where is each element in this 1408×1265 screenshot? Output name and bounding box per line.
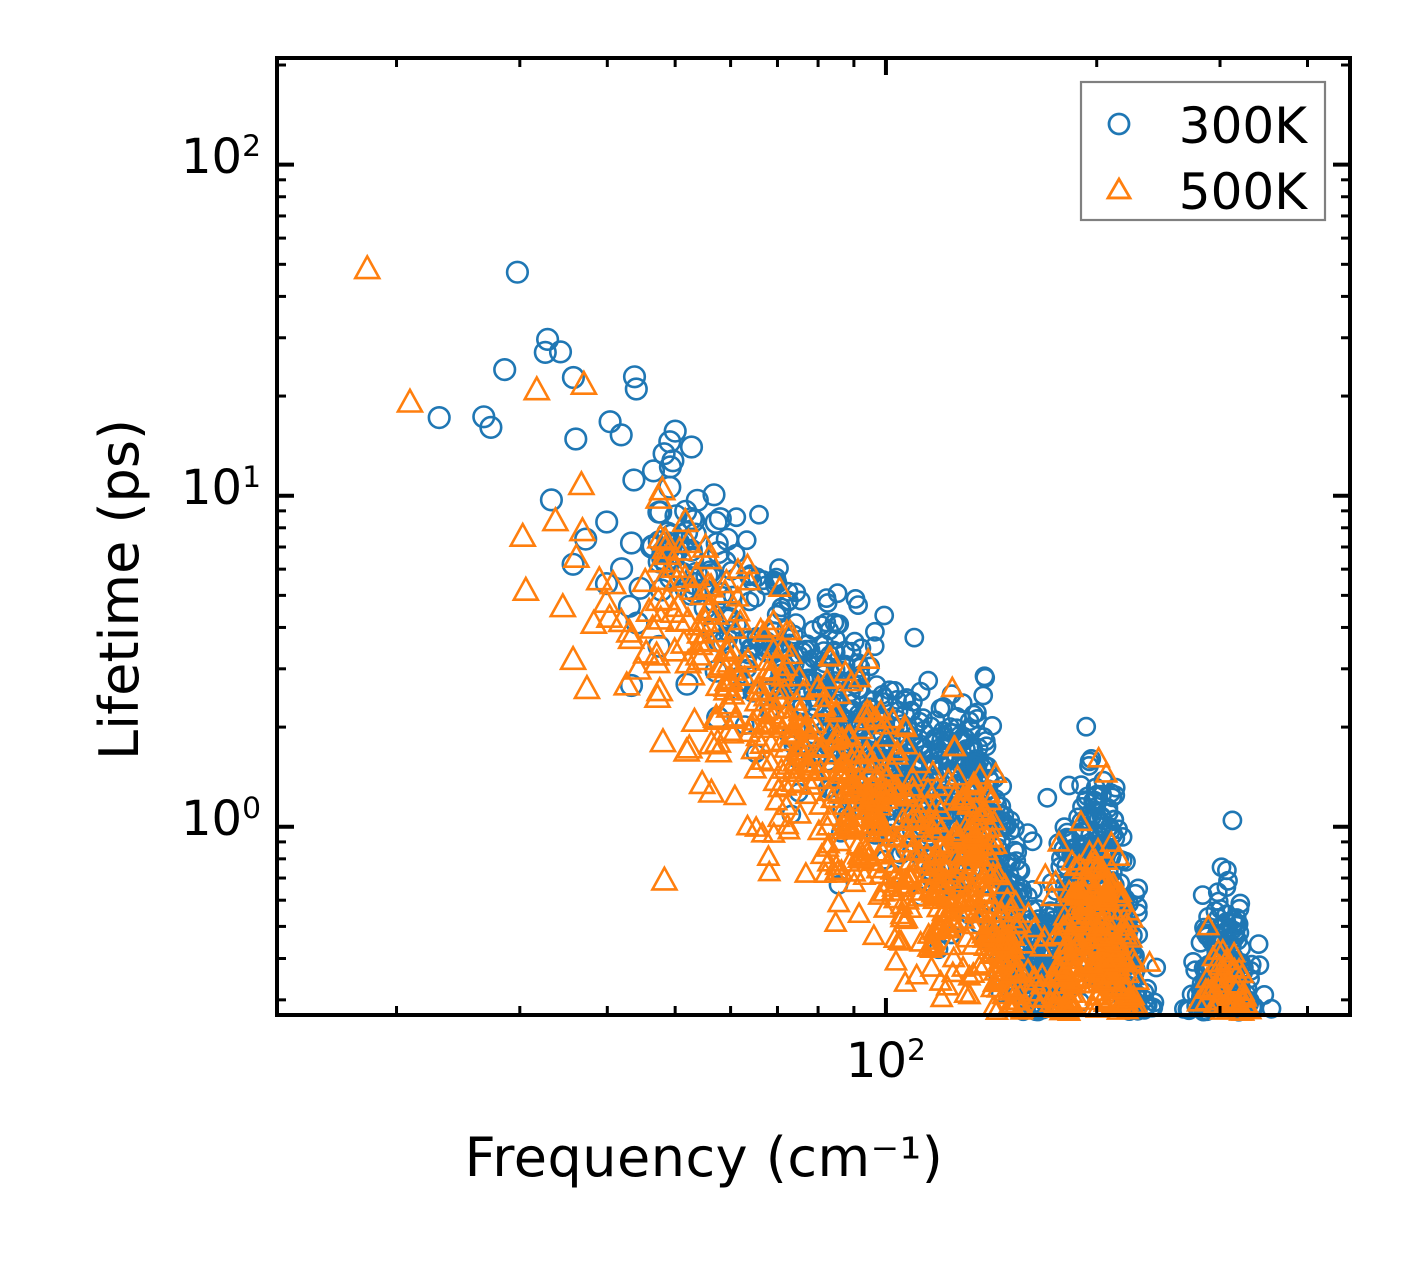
data-point <box>582 611 606 633</box>
data-point <box>906 629 923 646</box>
data-point <box>507 262 528 283</box>
legend-label-300K: 300K <box>1179 97 1308 155</box>
data-point <box>596 512 617 533</box>
data-point <box>575 676 599 698</box>
data-point <box>398 390 422 412</box>
y-axis-label-text: Lifetime (ps) <box>88 419 151 760</box>
data-point <box>796 864 816 882</box>
x-axis-label: Frequency (cm⁻¹) <box>0 1126 1408 1189</box>
data-point <box>652 868 676 890</box>
x-axis-label-text: Frequency (cm⁻¹) <box>465 1126 944 1189</box>
data-point <box>699 780 723 802</box>
data-point <box>611 425 632 446</box>
data-point <box>569 472 593 494</box>
data-point <box>864 926 884 944</box>
data-point <box>1256 986 1273 1003</box>
data-point <box>621 533 642 554</box>
figure-canvas: 300K500K Frequency (cm⁻¹) Lifetime (ps) … <box>0 0 1408 1265</box>
data-point <box>624 470 645 491</box>
data-point <box>541 490 562 511</box>
data-point <box>429 407 450 428</box>
data-point <box>511 524 535 546</box>
data-point <box>849 904 869 922</box>
data-point <box>1039 789 1056 806</box>
y-tick-label: 101 <box>181 460 261 516</box>
y-axis-label: Lifetime (ps) <box>88 419 151 760</box>
legend-label-500K: 500K <box>1179 163 1308 221</box>
data-point <box>850 597 867 614</box>
data-point <box>651 729 675 751</box>
data-point <box>494 359 515 380</box>
data-point <box>514 578 538 600</box>
data-point <box>561 647 585 669</box>
data-point <box>725 786 745 804</box>
data-point <box>550 342 571 363</box>
data-point <box>738 532 755 549</box>
y-tick-label: 100 <box>181 791 261 847</box>
data-point <box>886 951 906 969</box>
data-point <box>1250 936 1267 953</box>
data-points-layer <box>355 256 1280 1020</box>
x-tick-label: 102 <box>824 1033 948 1089</box>
data-point <box>566 429 587 450</box>
data-point <box>829 585 846 602</box>
data-point <box>543 508 567 530</box>
plot-legend[interactable]: 300K500K <box>1081 82 1325 221</box>
series-300K <box>429 262 1280 1020</box>
data-point <box>829 893 849 911</box>
data-point <box>1148 959 1165 976</box>
data-point <box>525 377 549 399</box>
data-point <box>826 913 846 931</box>
data-point <box>600 411 621 432</box>
data-point <box>1218 862 1235 879</box>
data-point <box>587 567 611 589</box>
data-point <box>876 607 893 624</box>
data-point <box>626 379 647 400</box>
data-point <box>537 329 558 350</box>
data-point <box>1224 812 1241 829</box>
data-point <box>975 687 992 704</box>
data-point <box>1078 718 1095 735</box>
scatter-plot: 300K500K <box>0 0 1408 1265</box>
data-point <box>551 594 575 616</box>
data-point <box>681 437 702 458</box>
y-tick-label: 102 <box>181 129 261 185</box>
data-point <box>355 256 379 278</box>
data-point <box>750 506 767 523</box>
